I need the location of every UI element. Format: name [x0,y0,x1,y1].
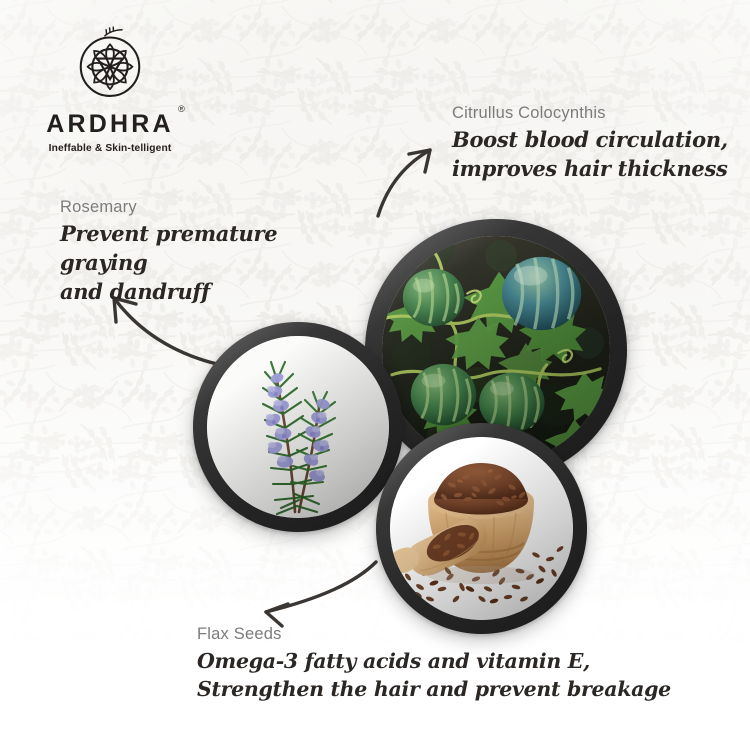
benefit-line: Prevent premature graying [60,220,360,278]
brand-wordmark: ARDHRA ® [46,112,174,137]
ingredient-name: Citrullus Colocynthis [452,104,742,123]
flax-seeds-photo-circle [376,423,587,634]
registered-trademark-icon: ® [178,105,185,114]
rosemary-callout: Rosemary Prevent premature graying and d… [60,198,360,307]
ingredient-benefit: Omega-3 fatty acids and vitamin E, Stren… [197,647,737,704]
flax-seeds-callout: Flax Seeds Omega-3 fatty acids and vitam… [197,625,737,704]
brand-name: ARDHRA [46,110,174,138]
ingredient-benefits-poster: ARDHRA ® Ineffable & Skin-telligent [0,0,750,750]
benefit-line: Boost blood circulation, [452,126,742,155]
ingredient-benefit: Boost blood circulation, improves hair t… [452,126,742,184]
rosemary-photo-circle [193,322,403,532]
benefit-line: and dandruff [60,278,360,307]
benefit-line: Omega-3 fatty acids and vitamin E, [197,647,737,675]
brand-logo: ARDHRA ® Ineffable & Skin-telligent [30,22,190,154]
flax-seeds-image [390,437,573,620]
benefit-line: Strengthen the hair and prevent breakage [197,675,737,703]
ingredient-name: Rosemary [60,198,360,217]
citrullus-colocynthis-callout: Citrullus Colocynthis Boost blood circul… [452,104,742,184]
ingredient-benefit: Prevent premature graying and dandruff [60,220,360,307]
benefit-line: improves hair thickness [452,155,742,184]
brand-tagline: Ineffable & Skin-telligent [30,143,190,154]
lotus-chakra-mandala-icon [67,22,153,108]
rosemary-image [207,336,389,518]
